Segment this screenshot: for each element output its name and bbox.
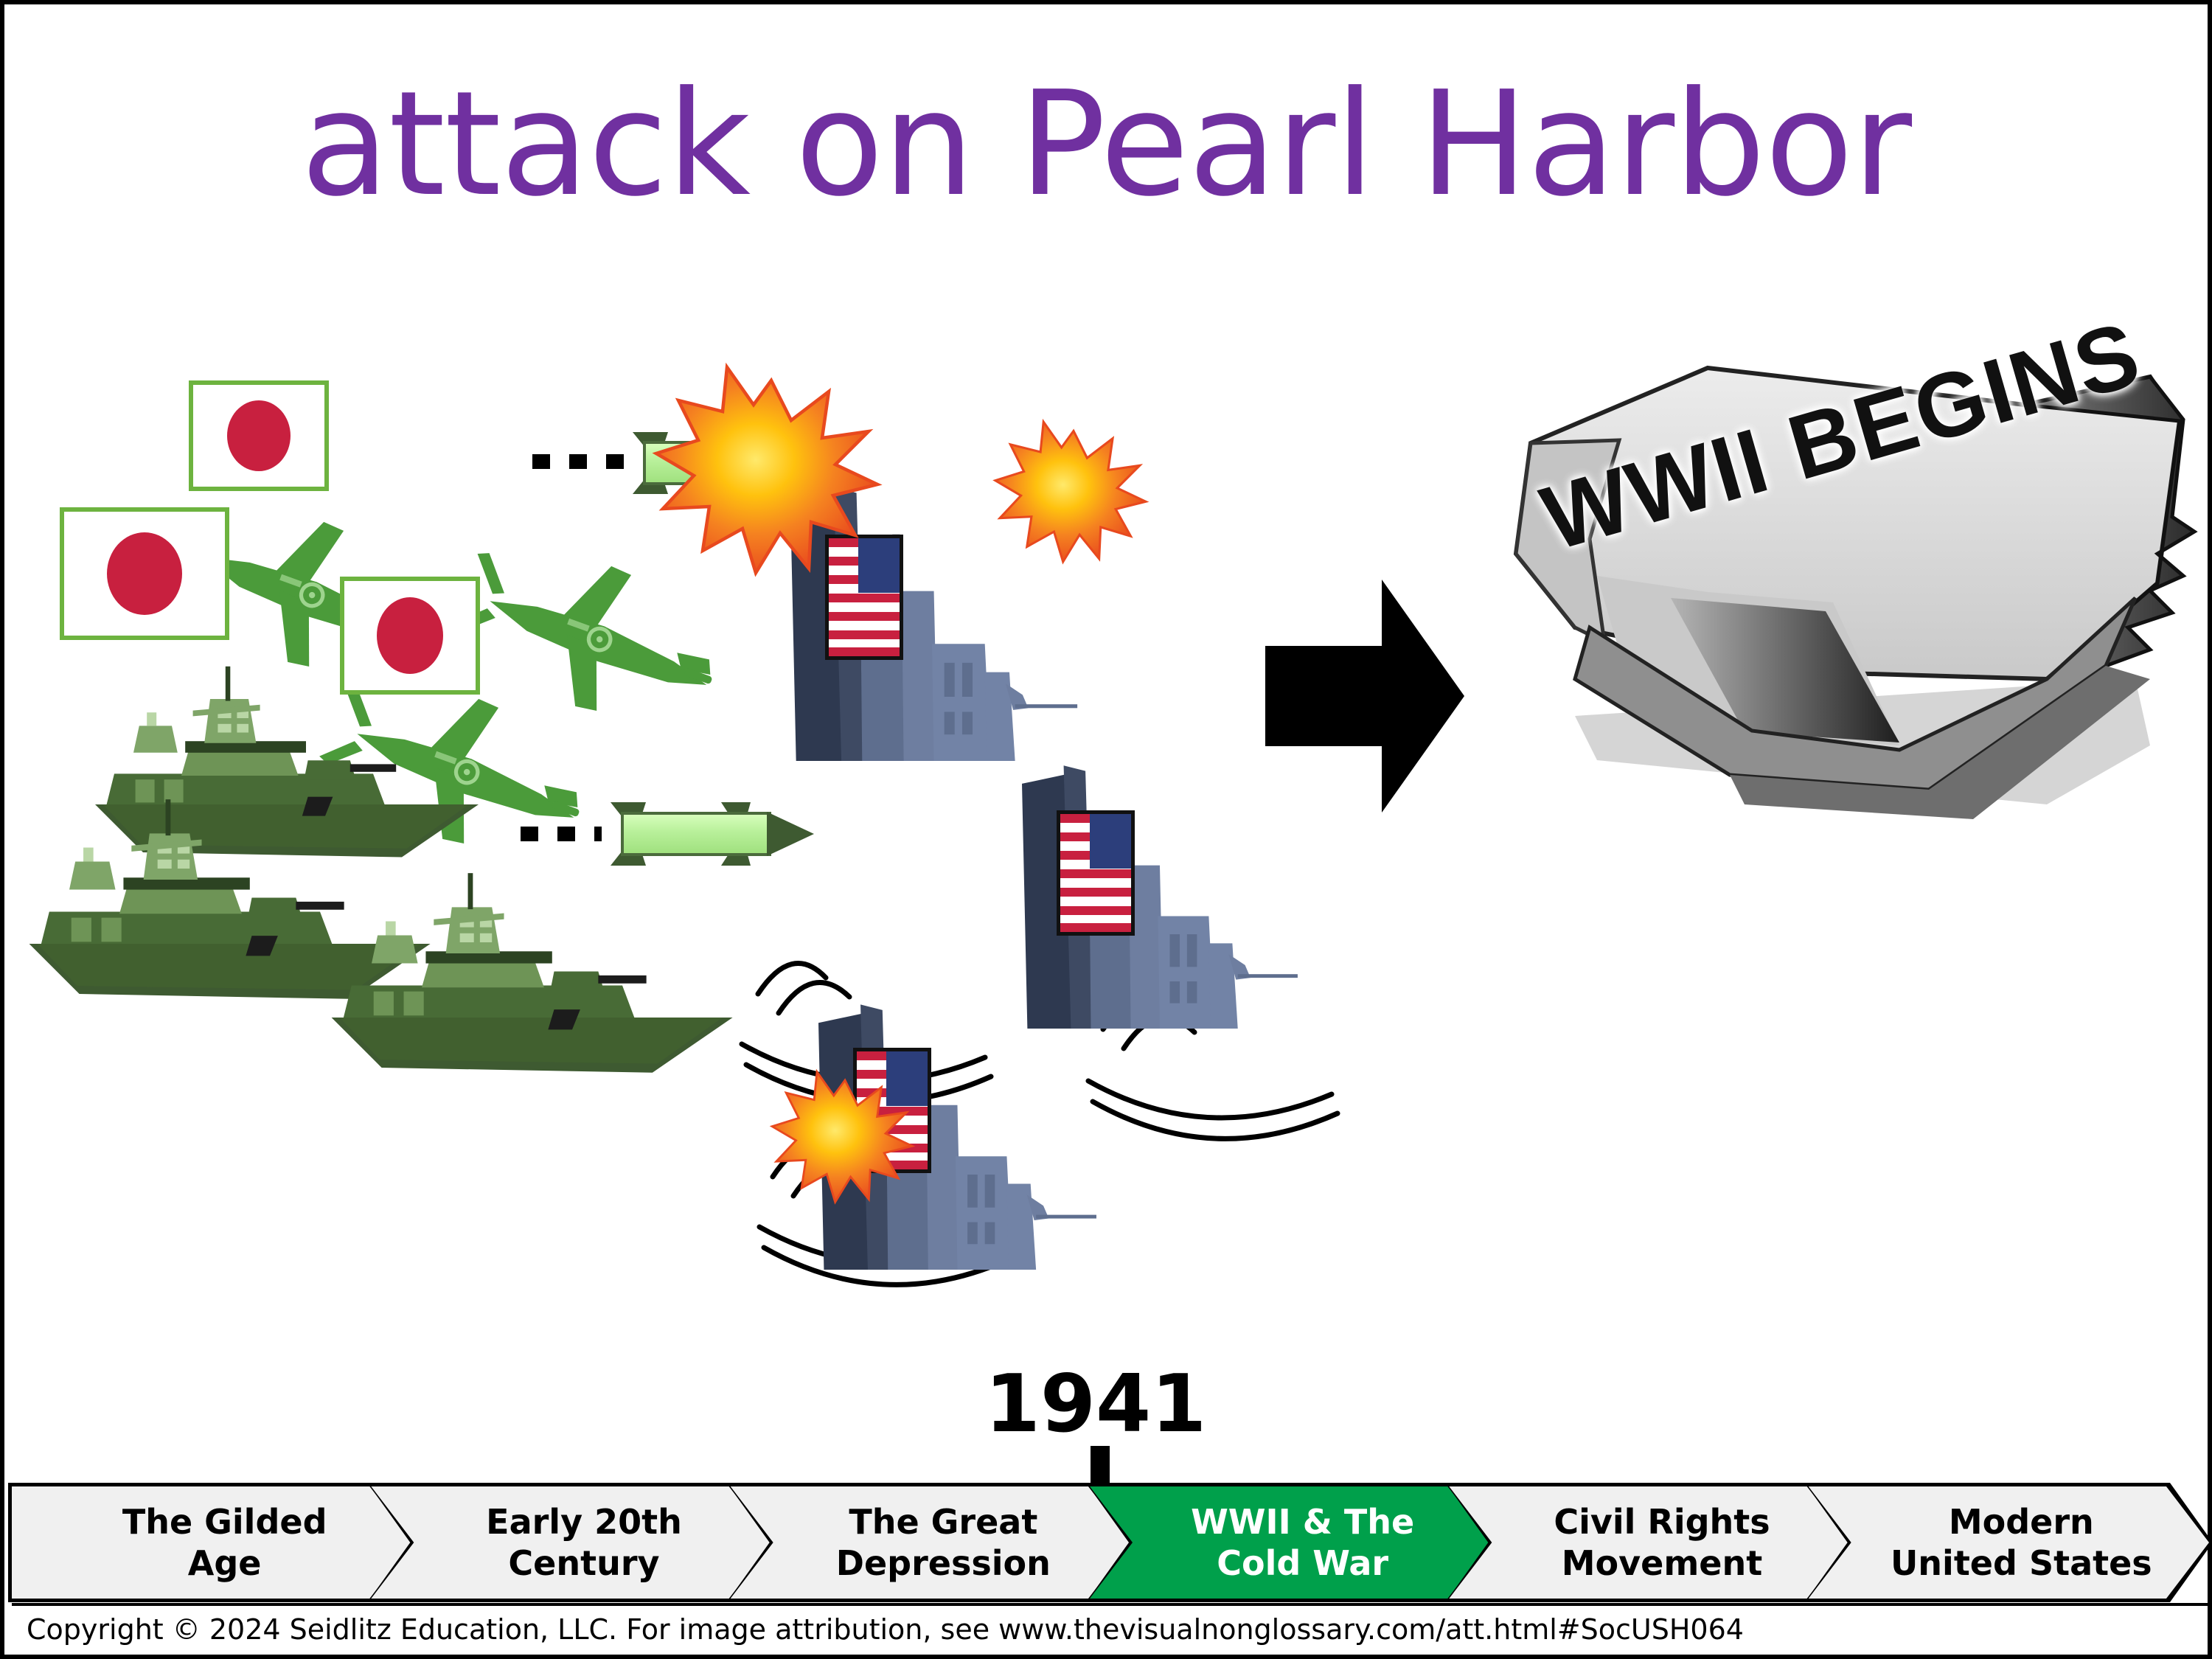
era-label-line2: Age [122,1543,327,1584]
era-label-line1: WWII & The [1191,1501,1414,1543]
era-chevron-label: Early 20thCentury [461,1501,682,1584]
era-chevron-civil-rights[interactable]: Civil RightsMovement [1449,1486,1849,1599]
era-chevron-label: The GildedAge [97,1501,327,1584]
era-label-line2: Cold War [1191,1543,1414,1584]
japanese-warships [29,667,733,1073]
era-chevron-label: The GreatDepression [811,1501,1051,1584]
era-timeline: The GildedAgeEarly 20thCenturyThe GreatD… [12,1486,2209,1599]
japan-flag-badge-2 [60,507,229,640]
copyright-text: Copyright © 2024 Seidlitz Education, LLC… [27,1613,1744,1646]
illustration-area: WWII BEGINS [4,248,2212,1302]
era-label-line2: Depression [836,1543,1051,1584]
us-flag-badges [825,535,1135,1173]
era-chevron-the-gilded[interactable]: The GildedAge [12,1486,412,1599]
era-chevron-early-20th[interactable]: Early 20thCentury [371,1486,771,1599]
poster-page: attack on Pearl Harbor [0,0,2212,1659]
era-label-line1: The Great [836,1501,1051,1543]
japan-flag-badge-3 [340,577,480,695]
era-chevron-label: ModernUnited States [1865,1501,2152,1584]
era-label-line2: Century [486,1543,682,1584]
era-label-line1: Early 20th [486,1501,682,1543]
era-chevron-the-great[interactable]: The GreatDepression [731,1486,1131,1599]
footer-divider [12,1603,2209,1606]
era-label-line1: Civil Rights [1554,1501,1770,1543]
era-label-line2: Movement [1554,1543,1770,1584]
era-chevron-wwii-the[interactable]: WWII & TheCold War [1090,1486,1490,1599]
era-label-line2: United States [1891,1543,2152,1584]
page-title: attack on Pearl Harbor [4,72,2208,217]
missile-lower [611,802,814,866]
japan-flag-badge-1 [189,380,329,491]
era-label-line1: Modern [1891,1501,2152,1543]
year-label: 1941 [963,1358,1228,1450]
era-chevron-modern[interactable]: ModernUnited States [1809,1486,2209,1599]
era-chevron-label: WWII & TheCold War [1166,1501,1414,1584]
era-chevron-label: Civil RightsMovement [1528,1501,1770,1584]
result-arrow-icon [1265,580,1464,813]
era-label-line1: The Gilded [122,1501,327,1543]
